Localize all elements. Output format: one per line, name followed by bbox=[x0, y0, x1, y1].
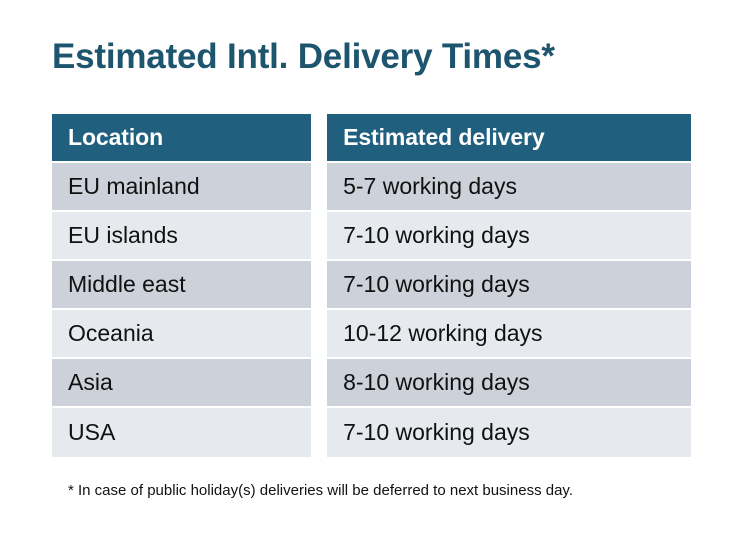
cell-location: EU islands bbox=[52, 212, 311, 261]
delivery-times-table: Location Estimated delivery EU mainland … bbox=[52, 114, 691, 457]
table-row: Oceania 10-12 working days bbox=[52, 310, 691, 359]
page-title: Estimated Intl. Delivery Times* bbox=[52, 36, 555, 78]
column-header-estimated-delivery: Estimated delivery bbox=[327, 114, 691, 163]
cell-location: EU mainland bbox=[52, 163, 311, 212]
cell-estimated-delivery: 5-7 working days bbox=[327, 163, 691, 212]
cell-estimated-delivery: 8-10 working days bbox=[327, 359, 691, 408]
column-gap-spacer bbox=[311, 212, 327, 261]
column-gap-spacer bbox=[311, 163, 327, 212]
delivery-times-card: Estimated Intl. Delivery Times* Location… bbox=[0, 0, 745, 536]
cell-estimated-delivery: 7-10 working days bbox=[327, 261, 691, 310]
column-gap-spacer bbox=[311, 261, 327, 310]
table-row: USA 7-10 working days bbox=[52, 408, 691, 457]
table-row: Middle east 7-10 working days bbox=[52, 261, 691, 310]
table-row: EU islands 7-10 working days bbox=[52, 212, 691, 261]
table-body: EU mainland 5-7 working days EU islands … bbox=[52, 163, 691, 457]
column-gap-spacer bbox=[311, 408, 327, 457]
column-header-location: Location bbox=[52, 114, 311, 163]
column-gap-spacer bbox=[311, 114, 327, 163]
cell-location: Oceania bbox=[52, 310, 311, 359]
cell-estimated-delivery: 7-10 working days bbox=[327, 212, 691, 261]
footnote-text: * In case of public holiday(s) deliverie… bbox=[68, 481, 573, 501]
cell-estimated-delivery: 7-10 working days bbox=[327, 408, 691, 457]
cell-estimated-delivery: 10-12 working days bbox=[327, 310, 691, 359]
cell-location: Middle east bbox=[52, 261, 311, 310]
table-row: EU mainland 5-7 working days bbox=[52, 163, 691, 212]
cell-location: Asia bbox=[52, 359, 311, 408]
cell-location: USA bbox=[52, 408, 311, 457]
column-gap-spacer bbox=[311, 359, 327, 408]
table-header-row: Location Estimated delivery bbox=[52, 114, 691, 163]
column-gap-spacer bbox=[311, 310, 327, 359]
table-header: Location Estimated delivery bbox=[52, 114, 691, 163]
table-row: Asia 8-10 working days bbox=[52, 359, 691, 408]
